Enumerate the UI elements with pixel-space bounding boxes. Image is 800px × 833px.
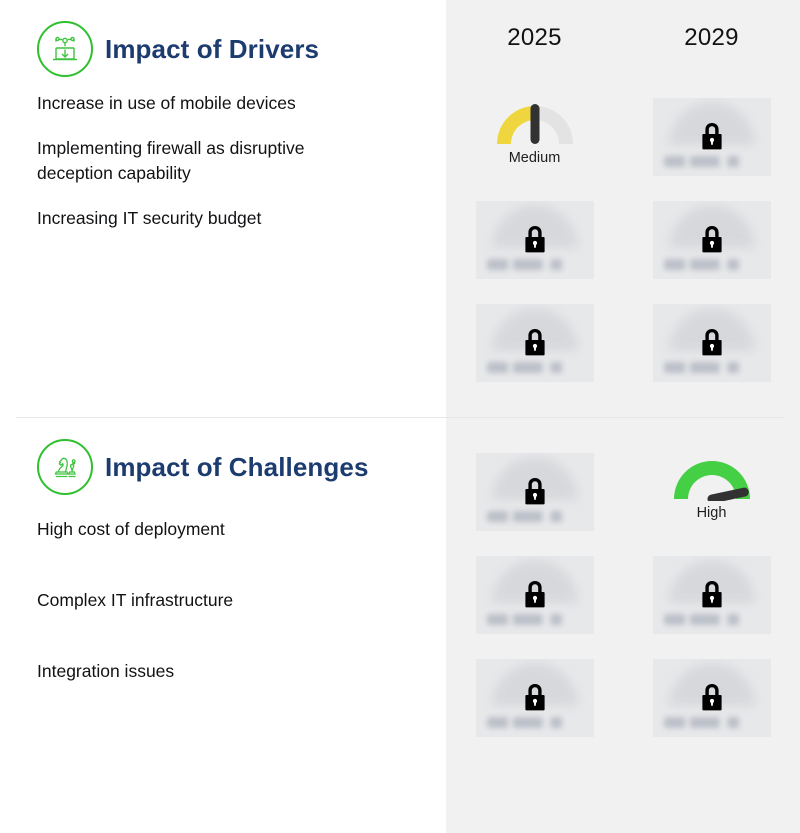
- blurred-label-placeholder: [487, 614, 583, 625]
- blurred-label-placeholder: [664, 259, 760, 270]
- drivers-item-list: Increase in use of mobile devices Implem…: [37, 91, 446, 230]
- table-row: High: [446, 453, 800, 556]
- gauge-dial-icon: [491, 98, 579, 146]
- list-item: Implementing firewall as disruptive dece…: [37, 136, 382, 186]
- section-challenges-header: Impact of Challenges: [37, 418, 446, 495]
- blurred-label-placeholder: [664, 362, 760, 373]
- lock-icon: [697, 326, 727, 360]
- lock-icon: [520, 578, 550, 612]
- blurred-label-placeholder: [487, 717, 583, 728]
- locked-tile[interactable]: [653, 659, 771, 737]
- cell-drivers-r3-2029[interactable]: [623, 304, 800, 407]
- gauge-value-label: High: [697, 505, 727, 521]
- cell-drivers-r2-2025[interactable]: [446, 201, 623, 304]
- chess-pieces-icon: [37, 439, 93, 495]
- locked-tile[interactable]: [653, 201, 771, 279]
- locked-tile[interactable]: [653, 304, 771, 382]
- cell-challenges-r1-2025[interactable]: [446, 453, 623, 556]
- blurred-label-placeholder: [664, 156, 760, 167]
- section-divider: [16, 417, 784, 418]
- cell-drivers-r1-2025: Medium: [446, 98, 623, 201]
- column-header-2025: 2025: [446, 24, 623, 52]
- section-challenges-title: Impact of Challenges: [105, 453, 369, 482]
- laptop-download-network-icon: [37, 21, 93, 77]
- challenges-value-grid: High: [446, 453, 800, 762]
- list-item: High cost of deployment: [37, 517, 382, 542]
- lock-icon: [520, 326, 550, 360]
- lock-icon: [520, 475, 550, 509]
- cell-challenges-r1-2029: High: [623, 453, 800, 556]
- cell-challenges-r2-2029[interactable]: [623, 556, 800, 659]
- cell-drivers-r1-2029[interactable]: [623, 98, 800, 201]
- list-item: Complex IT infrastructure: [37, 588, 382, 613]
- cell-challenges-r2-2025[interactable]: [446, 556, 623, 659]
- lock-icon: [697, 223, 727, 257]
- lock-icon: [697, 120, 727, 154]
- list-item: Increase in use of mobile devices: [37, 91, 382, 116]
- lock-icon: [520, 681, 550, 715]
- gauge-medium: Medium: [476, 98, 594, 166]
- gauge-value-label: Medium: [509, 150, 561, 166]
- locked-tile[interactable]: [653, 556, 771, 634]
- cell-drivers-r2-2029[interactable]: [623, 201, 800, 304]
- locked-tile[interactable]: [476, 453, 594, 531]
- section-drivers-header: Impact of Drivers: [37, 0, 446, 77]
- cell-challenges-r3-2025[interactable]: [446, 659, 623, 762]
- table-row: Medium: [446, 98, 800, 201]
- table-row: [446, 201, 800, 304]
- blurred-label-placeholder: [487, 511, 583, 522]
- impact-matrix: Impact of Drivers Increase in use of mob…: [0, 0, 800, 833]
- gauge-dial-icon: [668, 453, 756, 501]
- column-header-2029: 2029: [623, 24, 800, 52]
- lock-icon: [697, 578, 727, 612]
- gauge-high: High: [653, 453, 771, 521]
- column-headers: 2025 2029: [446, 24, 800, 52]
- drivers-value-grid: Medium: [446, 98, 800, 407]
- locked-tile[interactable]: [476, 556, 594, 634]
- lock-icon: [697, 681, 727, 715]
- lock-icon: [520, 223, 550, 257]
- cell-challenges-r3-2029[interactable]: [623, 659, 800, 762]
- list-item: Integration issues: [37, 659, 382, 684]
- blurred-label-placeholder: [664, 717, 760, 728]
- locked-tile[interactable]: [653, 98, 771, 176]
- blurred-label-placeholder: [664, 614, 760, 625]
- blurred-label-placeholder: [487, 259, 583, 270]
- locked-tile[interactable]: [476, 201, 594, 279]
- table-row: [446, 659, 800, 762]
- section-drivers: Impact of Drivers Increase in use of mob…: [0, 0, 446, 417]
- locked-tile[interactable]: [476, 659, 594, 737]
- blurred-label-placeholder: [487, 362, 583, 373]
- list-item: Increasing IT security budget: [37, 206, 382, 231]
- table-row: [446, 556, 800, 659]
- table-row: [446, 304, 800, 407]
- section-drivers-title: Impact of Drivers: [105, 35, 319, 64]
- challenges-item-list: High cost of deployment Complex IT infra…: [37, 517, 446, 684]
- cell-drivers-r3-2025[interactable]: [446, 304, 623, 407]
- locked-tile[interactable]: [476, 304, 594, 382]
- section-challenges: Impact of Challenges High cost of deploy…: [0, 418, 446, 833]
